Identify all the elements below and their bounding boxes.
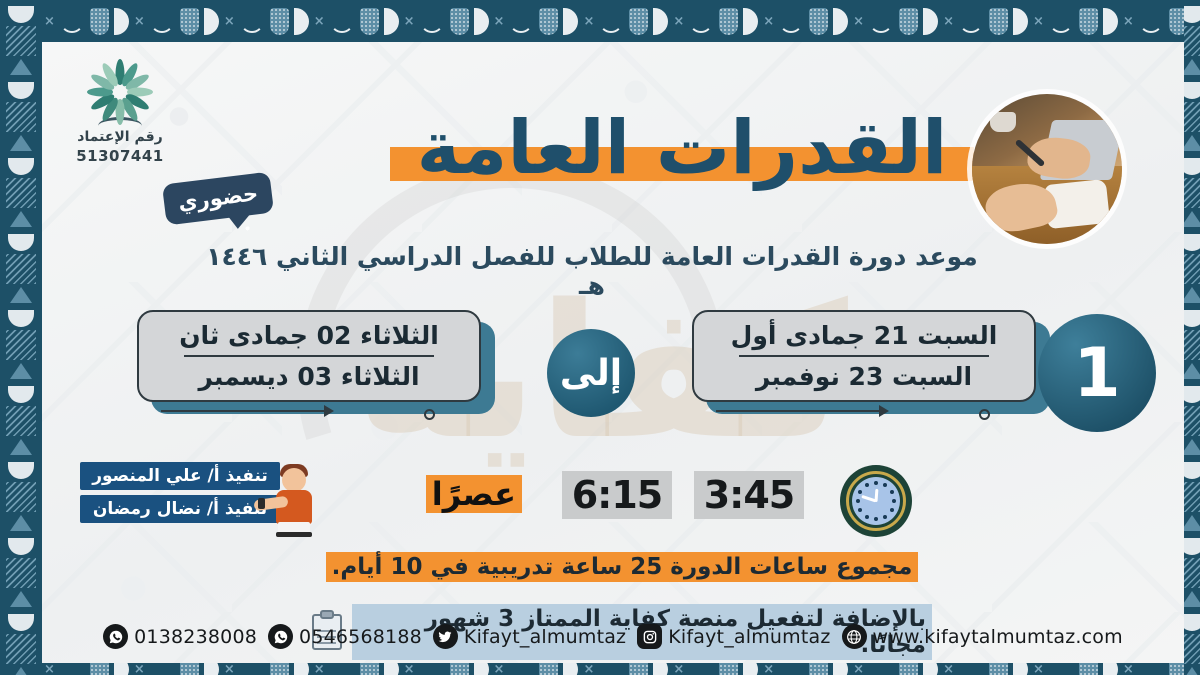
border-motif: × bbox=[180, 663, 264, 675]
whatsapp-icon[interactable] bbox=[268, 624, 293, 649]
end-date-card: الثلاثاء 02 جمادى ثان الثلاثاء 03 ديسمبر bbox=[137, 310, 487, 410]
border-motif: × bbox=[539, 8, 623, 35]
tree-star-logo-icon bbox=[84, 57, 156, 127]
border-motif: × bbox=[719, 8, 803, 35]
border-motif: × bbox=[450, 8, 534, 35]
student-writing-photo bbox=[972, 94, 1122, 244]
start-date-hijri: السبت 21 جمادى أول bbox=[731, 321, 998, 350]
arrow-decoration bbox=[161, 405, 361, 419]
border-motif bbox=[6, 82, 36, 151]
start-date-gregorian: السبت 23 نوفمبر bbox=[756, 362, 972, 391]
page-title: القدرات العامة bbox=[372, 100, 992, 196]
time-period-label: عصرًا bbox=[426, 475, 522, 513]
border-motif: × bbox=[629, 8, 713, 35]
knob-decoration bbox=[979, 409, 990, 420]
course-hours-note: مجموع ساعات الدورة 25 ساعة تدريبية في 10… bbox=[312, 554, 932, 580]
border-motif bbox=[1184, 614, 1200, 675]
border-motif: × bbox=[90, 663, 174, 675]
border-motif: × bbox=[1079, 663, 1163, 675]
instructor-item: تنفيذ أ/ علي المنصور bbox=[80, 462, 280, 490]
border-motif bbox=[6, 234, 36, 303]
time-start-value: 3:45 bbox=[694, 471, 804, 519]
border-motif bbox=[1184, 82, 1200, 151]
frame-right-border bbox=[1184, 0, 1200, 675]
border-motif bbox=[1184, 158, 1200, 227]
border-motif: × bbox=[899, 8, 983, 35]
end-date-gregorian: الثلاثاء 03 ديسمبر bbox=[198, 362, 419, 391]
accreditation-label: رقم الإعتماد bbox=[60, 129, 180, 147]
contact-item[interactable]: www.kifaytalmumtaz.com bbox=[842, 624, 1123, 649]
globe-icon[interactable] bbox=[842, 624, 867, 649]
border-motif: × bbox=[719, 663, 803, 675]
presenter-character-icon bbox=[264, 460, 324, 536]
arrow-decoration bbox=[716, 405, 916, 419]
border-motif: × bbox=[450, 663, 534, 675]
contact-value: 0546568188 bbox=[299, 626, 422, 648]
frame-top-border: ×××××××××××××××××××× bbox=[0, 0, 1200, 42]
accreditation-number: 51307441 bbox=[60, 147, 180, 165]
contact-value: Kifayt_almumtaz bbox=[464, 626, 626, 648]
border-motif bbox=[6, 6, 36, 75]
course-hours-text: مجموع ساعات الدورة 25 ساعة تدريبية في 10… bbox=[326, 552, 919, 582]
accreditation-block: رقم الإعتماد 51307441 bbox=[60, 57, 180, 165]
border-motif: × bbox=[809, 8, 893, 35]
start-date-card: السبت 21 جمادى أول السبت 23 نوفمبر bbox=[692, 310, 1042, 410]
contact-value: www.kifaytalmumtaz.com bbox=[873, 626, 1123, 648]
frame-left-border bbox=[0, 0, 42, 675]
connector-badge: إلى bbox=[547, 329, 635, 417]
contact-item[interactable]: 0546568188 bbox=[268, 624, 422, 649]
time-block: عصرًا 6:15 3:45 bbox=[392, 467, 852, 527]
border-motif bbox=[6, 158, 36, 227]
border-motif bbox=[6, 462, 36, 531]
border-motif bbox=[6, 386, 36, 455]
border-motif: × bbox=[270, 663, 354, 675]
instructors-block: تنفيذ أ/ علي المنصور تنفيذ أ/ نضال رمضان bbox=[80, 462, 280, 528]
time-end-value: 6:15 bbox=[562, 471, 672, 519]
border-motif: × bbox=[360, 663, 444, 675]
border-motif: × bbox=[899, 663, 983, 675]
contact-value: Kifayt_almumtaz bbox=[668, 626, 830, 648]
divider bbox=[739, 355, 989, 357]
contact-item[interactable]: Kifayt_almumtaz bbox=[637, 624, 830, 649]
border-motif bbox=[1184, 6, 1200, 75]
contact-value: 0138238008 bbox=[134, 626, 257, 648]
contact-item[interactable]: 0138238008 bbox=[103, 624, 257, 649]
page-subtitle: موعد دورة القدرات العامة للطلاب للفصل ال… bbox=[192, 242, 992, 300]
contact-item[interactable]: Kifayt_almumtaz bbox=[433, 624, 626, 649]
twitter-icon[interactable] bbox=[433, 624, 458, 649]
title-block: القدرات العامة bbox=[372, 100, 992, 196]
clock-icon bbox=[840, 465, 912, 537]
border-motif: × bbox=[809, 663, 893, 675]
border-motif: × bbox=[629, 663, 713, 675]
knob-decoration bbox=[424, 409, 435, 420]
border-motif: × bbox=[1079, 8, 1163, 35]
border-motif: × bbox=[90, 8, 174, 35]
instructor-item: تنفيذ أ/ نضال رمضان bbox=[80, 495, 280, 523]
border-motif bbox=[1184, 310, 1200, 379]
border-motif: × bbox=[180, 8, 264, 35]
border-motif bbox=[6, 538, 36, 607]
border-motif: × bbox=[270, 8, 354, 35]
border-motif bbox=[1184, 386, 1200, 455]
border-motif: × bbox=[360, 8, 444, 35]
border-motif bbox=[1184, 538, 1200, 607]
group-number-badge: 1 bbox=[1038, 314, 1156, 432]
instagram-icon[interactable] bbox=[637, 624, 662, 649]
poster-root: ×××××××××××××××××××× ×××××××××××××××××××… bbox=[0, 0, 1200, 675]
border-motif bbox=[6, 614, 36, 675]
border-motif bbox=[6, 310, 36, 379]
poster-canvas: كفاية رقم الإعتماد 51307441 حضوري القدرا… bbox=[42, 42, 1184, 663]
border-motif: × bbox=[989, 8, 1073, 35]
frame-bottom-border: ×××××××××××××××××××× bbox=[0, 663, 1200, 675]
border-motif: × bbox=[539, 663, 623, 675]
end-date-hijri: الثلاثاء 02 جمادى ثان bbox=[179, 321, 439, 350]
border-motif bbox=[1184, 234, 1200, 303]
contact-footer: 01382380080546568188Kifayt_almumtazKifay… bbox=[42, 624, 1184, 649]
border-motif: × bbox=[989, 663, 1073, 675]
border-motif bbox=[1184, 462, 1200, 531]
divider bbox=[184, 355, 434, 357]
whatsapp-icon[interactable] bbox=[103, 624, 128, 649]
